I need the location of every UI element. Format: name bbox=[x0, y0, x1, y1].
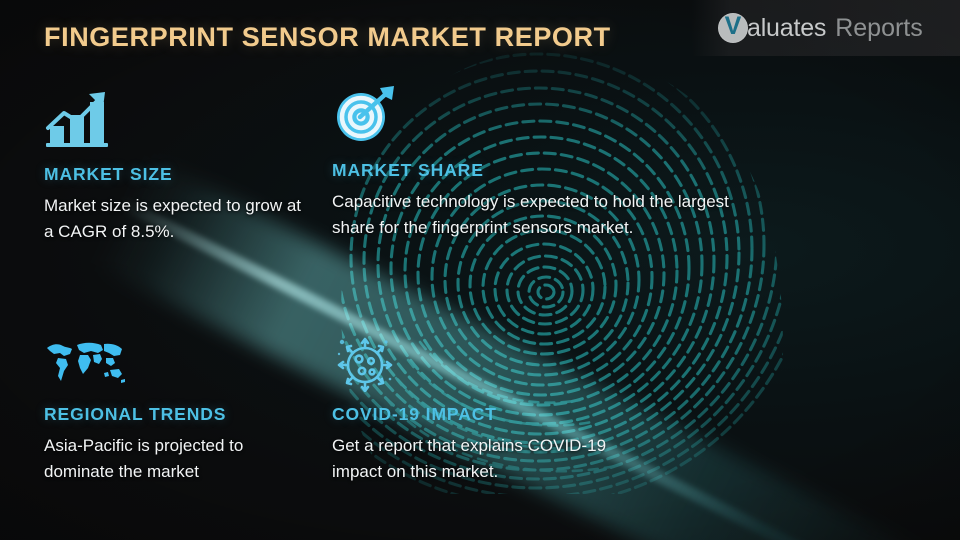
infographic-slide: FINGERPRINT SENSOR MARKET REPORT V aluat… bbox=[0, 0, 960, 540]
heading-regional-trends: REGIONAL TRENDS bbox=[44, 404, 314, 425]
block-market-size: MARKET SIZE Market size is expected to g… bbox=[44, 88, 314, 245]
body-regional-trends: Asia-Pacific is projected to dominate th… bbox=[44, 433, 314, 485]
bar-chart-growth-icon bbox=[44, 88, 314, 154]
valuates-v-badge-icon: V bbox=[718, 13, 748, 43]
body-market-size: Market size is expected to grow at a CAG… bbox=[44, 193, 314, 245]
logo-badge-letter: V bbox=[725, 14, 742, 39]
page-title: FINGERPRINT SENSOR MARKET REPORT bbox=[44, 22, 611, 53]
block-regional-trends: REGIONAL TRENDS Asia-Pacific is projecte… bbox=[44, 338, 314, 485]
logo-suffix-text: Reports bbox=[835, 14, 923, 43]
heading-covid-19-impact: COVID-19 IMPACT bbox=[332, 404, 632, 425]
virus-icon bbox=[332, 334, 632, 394]
block-covid-19-impact: COVID-19 IMPACT Get a report that explai… bbox=[332, 334, 632, 485]
body-covid-19-impact: Get a report that explains COVID-19 impa… bbox=[332, 433, 632, 485]
body-market-share: Capacitive technology is expected to hol… bbox=[332, 189, 752, 241]
block-market-share: MARKET SHARE Capacitive technology is ex… bbox=[332, 84, 752, 241]
heading-market-share: MARKET SHARE bbox=[332, 160, 752, 181]
brand-logo[interactable]: V aluates Reports bbox=[692, 0, 960, 56]
world-map-icon bbox=[44, 338, 314, 394]
target-dart-icon bbox=[332, 84, 752, 150]
heading-market-size: MARKET SIZE bbox=[44, 164, 314, 185]
logo-brand-text: aluates bbox=[747, 14, 826, 43]
